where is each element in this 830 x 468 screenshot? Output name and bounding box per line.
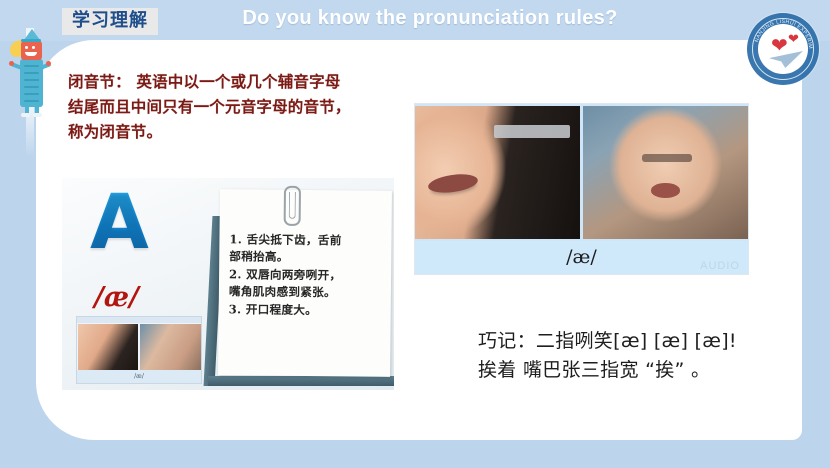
speaker-face-frame <box>583 106 748 239</box>
note-line-2: 部稍抬高。 <box>229 249 383 268</box>
mascot-hat-brim <box>21 39 41 42</box>
mascot-head <box>21 41 42 60</box>
thumbnail-mouth-closeup <box>78 324 138 371</box>
note-line-5: 3. 开口程度大。 <box>229 301 383 320</box>
heart-icon-large: ❤ <box>771 36 788 56</box>
mascot-eye-right <box>32 46 35 49</box>
video-frames-row <box>415 106 748 239</box>
mascot-body <box>20 59 43 107</box>
thumbnail-caption: /æ/ <box>77 370 201 383</box>
mnemonic-line-2: 挨着 嘴巴张三指宽 “挨” 。 <box>478 356 778 385</box>
mnemonic-text: 巧记：二指咧笑[æ] [æ] [æ]! 挨着 嘴巴张三指宽 “挨” 。 <box>478 327 778 386</box>
pronunciation-photo-card: A /æ/ /æ/ 1. 舌尖抵下齿，舌前 部稍抬高。 2. 双唇向两旁咧开， … <box>62 178 394 390</box>
mascot-foot-right <box>33 113 42 117</box>
note-binder-base <box>208 376 394 386</box>
thumbnail-titlebar <box>77 317 201 323</box>
closed-syllable-definition: 闭音节： 英语中以一个或几个辅音字母 结尾而且中间只有一个元音字母的音节， 称为… <box>68 70 408 145</box>
letter-a-graphic: A <box>90 184 149 260</box>
definition-line-3: 称为闭音节。 <box>68 120 408 145</box>
articulation-steps: 1. 舌尖抵下齿，舌前 部稍抬高。 2. 双唇向两旁咧开， 嘴角肌肉感到紧张。 … <box>229 231 384 320</box>
instruction-note-card: 1. 舌尖抵下齿，舌前 部稍抬高。 2. 双唇向两旁咧开， 嘴角肌肉感到紧张。 … <box>218 189 392 377</box>
heart-icon-small: ❤ <box>788 32 799 45</box>
logo-center-disc: ❤ ❤ <box>758 24 808 74</box>
definition-line-2: 结尾而且中间只有一个元音字母的音节， <box>68 95 408 120</box>
mascot-hand-left <box>9 61 14 66</box>
mnemonic-line-1: 巧记：二指咧笑[æ] [æ] [æ]! <box>478 327 778 356</box>
ipa-symbol-red: /æ/ <box>94 282 139 313</box>
note-line-1: 1. 舌尖抵下齿，舌前 <box>229 231 383 250</box>
mouth-closeup-frame <box>415 106 580 239</box>
page-title: Do you know the pronunciation rules? <box>0 7 830 30</box>
mascot-eye-left <box>25 46 28 49</box>
mascot-hand-right <box>46 61 51 66</box>
note-line-3: 2. 双唇向两旁咧开， <box>229 266 383 285</box>
note-line-4: 嘴角肌肉感到紧张。 <box>229 283 383 302</box>
slide-root: 学习理解 Do you know the pronunciation rules… <box>0 0 830 468</box>
paperclip-icon <box>284 186 301 226</box>
school-logo: NANJING LISHUI EXPERIMENTAL 南京市溧水区实验学校 ❤… <box>747 13 819 85</box>
video-watermark: AUDIO <box>700 260 740 272</box>
definition-line-1: 闭音节： 英语中以一个或几个辅音字母 <box>68 70 408 95</box>
mascot-foot-left <box>21 113 30 117</box>
mascot-character <box>8 28 52 158</box>
video-caption: /æ/ <box>415 241 748 274</box>
mascot-mouth <box>25 52 37 56</box>
thumbnail-speaker-face <box>140 324 201 371</box>
inset-video-thumbnails: /æ/ <box>76 316 202 384</box>
pronunciation-video-panel[interactable]: /æ/ AUDIO <box>415 104 748 274</box>
